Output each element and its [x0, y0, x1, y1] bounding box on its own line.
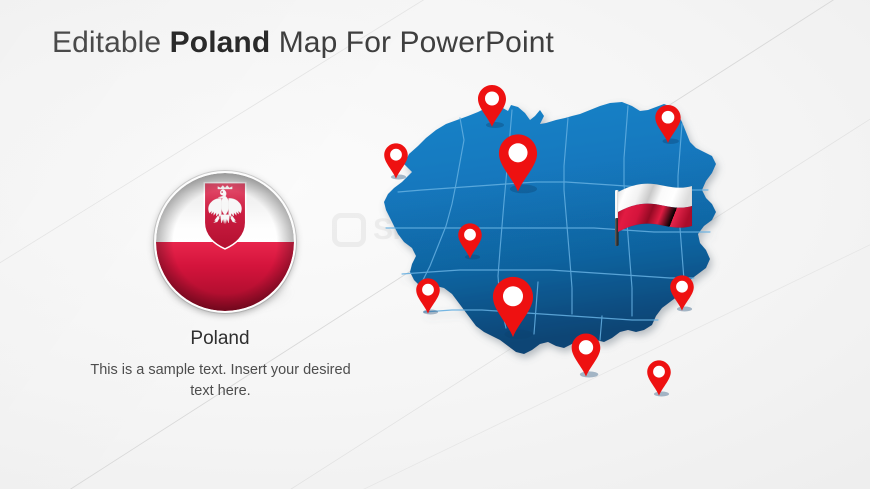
pin-southeast[interactable] — [646, 360, 673, 397]
pin-central-north[interactable] — [496, 133, 540, 193]
pin-central-west[interactable] — [457, 223, 484, 260]
poland-flag-badge[interactable] — [153, 170, 295, 312]
slide-canvas: Editable Poland Map For PowerPoint Slide… — [0, 0, 870, 489]
title-part-poland: Poland — [170, 26, 271, 59]
page-title: Editable Poland Map For PowerPoint — [52, 26, 554, 60]
poland-flag-circle-icon[interactable] — [154, 171, 296, 313]
pin-south-central[interactable] — [490, 276, 536, 339]
pin-northwest[interactable] — [383, 143, 410, 180]
poland-map[interactable] — [360, 80, 800, 440]
title-part-editable: Editable — [52, 26, 170, 59]
pin-south[interactable] — [570, 333, 603, 378]
poland-waving-flag-icon[interactable] — [608, 158, 694, 250]
pin-east[interactable] — [669, 275, 696, 312]
pin-north-pomerania[interactable] — [476, 84, 508, 128]
title-part-map-for-powerpoint: Map For PowerPoint — [270, 26, 554, 59]
pin-northeast[interactable] — [654, 104, 683, 144]
sample-text-block: This is a sample text. Insert your desir… — [78, 360, 363, 401]
country-name-label: Poland — [0, 328, 440, 350]
pin-southwest[interactable] — [415, 278, 442, 315]
